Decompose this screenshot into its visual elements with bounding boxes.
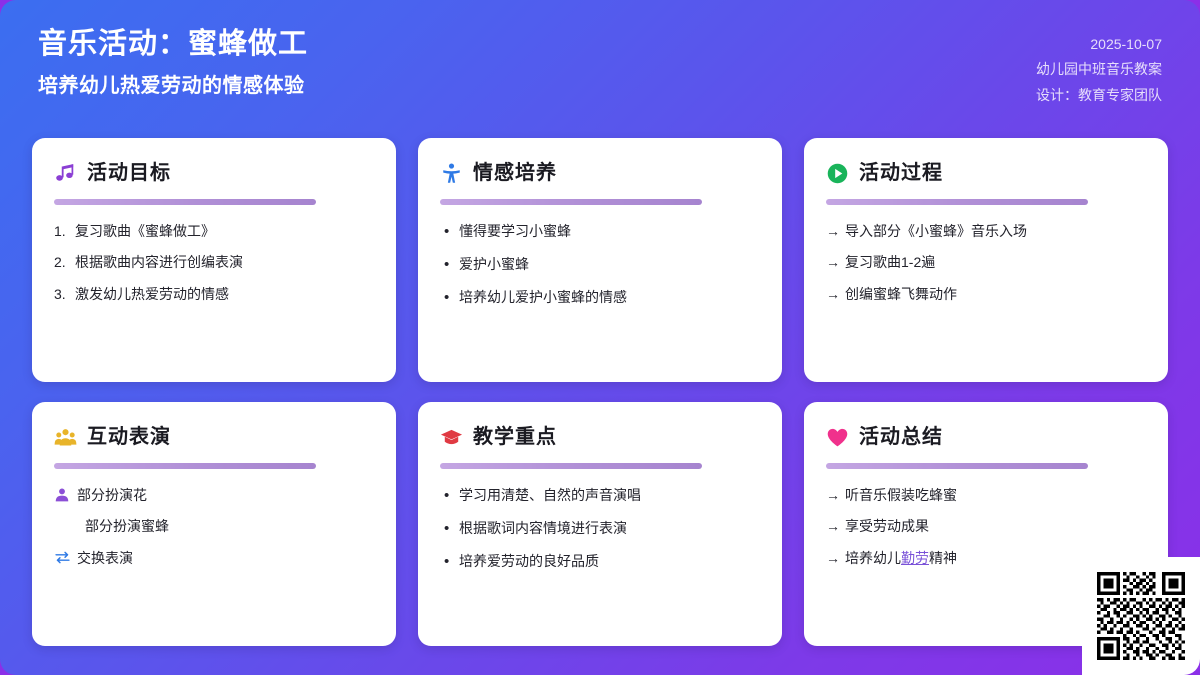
list-item-text: 根据歌曲内容进行创编表演 — [75, 252, 374, 272]
list-marker: 3. — [54, 284, 75, 304]
list-item: 部分扮演花 — [54, 485, 374, 505]
graduation-cap-icon — [440, 426, 463, 449]
list-marker: • — [440, 287, 459, 309]
list-marker: • — [440, 485, 459, 507]
card-item-list: → 听音乐假装吃蜂蜜 → 享受劳动成果 → 培养幼儿勤劳精神 — [826, 485, 1146, 568]
heart-icon — [826, 426, 849, 449]
list-item-text: 交换表演 — [77, 548, 374, 568]
list-marker: → — [826, 548, 845, 568]
list-marker: → — [826, 252, 845, 272]
list-item-text: 导入部分《小蜜蜂》音乐入场 — [845, 221, 1146, 241]
card-title: 教学重点 — [473, 427, 557, 447]
list-item: → 导入部分《小蜜蜂》音乐入场 — [826, 221, 1146, 241]
card-header: 活动目标 — [54, 158, 374, 188]
card-activity-goals: 活动目标 1. 复习歌曲《蜜蜂做工》 2. 根据歌曲内容进行创编表演 3. 激发… — [32, 138, 396, 382]
card-header: 活动过程 — [826, 158, 1146, 188]
no-icon-spacer — [54, 516, 77, 536]
card-divider — [440, 199, 702, 205]
card-title: 情感培养 — [473, 163, 557, 183]
list-item-text: 爱护小蜜蜂 — [459, 254, 760, 274]
card-divider — [826, 199, 1088, 205]
list-item: • 培养幼儿爱护小蜜蜂的情感 — [440, 287, 760, 309]
list-item-text: 培养幼儿爱护小蜜蜂的情感 — [459, 287, 760, 307]
list-marker: • — [440, 221, 459, 243]
qr-code[interactable] — [1082, 557, 1200, 675]
list-item-text: 部分扮演蜜蜂 — [77, 516, 374, 536]
card-header: 互动表演 — [54, 422, 374, 452]
list-item: • 培养爱劳动的良好品质 — [440, 551, 760, 573]
list-marker: • — [440, 551, 459, 573]
swap-arrows-icon — [54, 548, 77, 568]
card-title: 活动过程 — [859, 163, 943, 183]
list-item-text: 听音乐假装吃蜂蜜 — [845, 485, 1146, 505]
list-marker: 2. — [54, 252, 75, 272]
list-marker: 1. — [54, 221, 75, 241]
list-item: 交换表演 — [54, 548, 374, 568]
card-divider — [826, 463, 1088, 469]
list-item-text: 复习歌曲《蜜蜂做工》 — [75, 221, 374, 241]
header-date: 2025-10-07 — [1090, 34, 1162, 54]
qr-code-image — [1094, 569, 1188, 663]
card-grid: 活动目标 1. 复习歌曲《蜜蜂做工》 2. 根据歌曲内容进行创编表演 3. 激发… — [32, 138, 1168, 646]
list-item: • 学习用清楚、自然的声音演唱 — [440, 485, 760, 507]
card-item-list: → 导入部分《小蜜蜂》音乐入场 → 复习歌曲1-2遍 → 创编蜜蜂飞舞动作 — [826, 221, 1146, 304]
list-marker: • — [440, 254, 459, 276]
list-marker: → — [826, 516, 845, 536]
card-item-list: 1. 复习歌曲《蜜蜂做工》 2. 根据歌曲内容进行创编表演 3. 激发幼儿热爱劳… — [54, 221, 374, 304]
page-subtitle: 培养幼儿热爱劳动的情感体验 — [38, 72, 308, 100]
card-header: 情感培养 — [440, 158, 760, 188]
standing-person-icon — [440, 162, 463, 185]
list-item: • 根据歌词内容情境进行表演 — [440, 518, 760, 540]
header-title-block: 音乐活动：蜜蜂做工 培养幼儿热爱劳动的情感体验 — [38, 26, 308, 100]
list-item: → 听音乐假装吃蜂蜜 — [826, 485, 1146, 505]
list-item: 3. 激发幼儿热爱劳动的情感 — [54, 284, 374, 304]
list-item-text: 懂得要学习小蜜蜂 — [459, 221, 760, 241]
list-item: • 懂得要学习小蜜蜂 — [440, 221, 760, 243]
header-author: 设计：教育专家团队 — [1036, 85, 1162, 105]
people-group-icon — [54, 426, 77, 449]
play-circle-icon — [826, 162, 849, 185]
card-header: 教学重点 — [440, 422, 760, 452]
card-header: 活动总结 — [826, 422, 1146, 452]
list-item-text: 部分扮演花 — [77, 485, 374, 505]
card-title: 活动目标 — [87, 163, 171, 183]
list-marker: → — [826, 221, 845, 241]
header-category: 幼儿园中班音乐教案 — [1036, 59, 1162, 79]
list-item: 部分扮演蜜蜂 — [54, 516, 374, 536]
list-item-text: 根据歌词内容情境进行表演 — [459, 518, 760, 538]
card-divider — [440, 463, 702, 469]
card-title: 活动总结 — [859, 427, 943, 447]
card-divider — [54, 199, 316, 205]
header-meta-block: 2025-10-07 幼儿园中班音乐教案 设计：教育专家团队 — [1036, 26, 1162, 105]
slide-header: 音乐活动：蜜蜂做工 培养幼儿热爱劳动的情感体验 2025-10-07 幼儿园中班… — [0, 0, 1200, 128]
page-title: 音乐活动：蜜蜂做工 — [38, 26, 308, 64]
card-interactive-performance: 互动表演 部分扮演花 部分扮演蜜蜂 — [32, 402, 396, 646]
card-divider — [54, 463, 316, 469]
list-item: → 创编蜜蜂飞舞动作 — [826, 284, 1146, 304]
slide-root: 音乐活动：蜜蜂做工 培养幼儿热爱劳动的情感体验 2025-10-07 幼儿园中班… — [0, 0, 1200, 675]
inline-link-diligence[interactable]: 勤劳 — [901, 550, 929, 566]
list-item-text: 复习歌曲1-2遍 — [845, 252, 1146, 272]
list-item: 2. 根据歌曲内容进行创编表演 — [54, 252, 374, 272]
person-bust-icon — [54, 485, 77, 505]
card-emotional-development: 情感培养 • 懂得要学习小蜜蜂 • 爱护小蜜蜂 • 培养幼儿爱护小蜜蜂的情感 — [418, 138, 782, 382]
list-marker: → — [826, 485, 845, 505]
music-note-icon — [54, 162, 77, 185]
list-item-text: 学习用清楚、自然的声音演唱 — [459, 485, 760, 505]
list-item-text: 激发幼儿热爱劳动的情感 — [75, 284, 374, 304]
card-item-list: • 学习用清楚、自然的声音演唱 • 根据歌词内容情境进行表演 • 培养爱劳动的良… — [440, 485, 760, 572]
list-marker: → — [826, 284, 845, 304]
card-activity-process: 活动过程 → 导入部分《小蜜蜂》音乐入场 → 复习歌曲1-2遍 → 创编蜜蜂飞舞… — [804, 138, 1168, 382]
list-item-text: 创编蜜蜂飞舞动作 — [845, 284, 1146, 304]
list-item: → 享受劳动成果 — [826, 516, 1146, 536]
list-item-text: 培养爱劳动的良好品质 — [459, 551, 760, 571]
card-title: 互动表演 — [87, 427, 171, 447]
card-item-list: 部分扮演花 部分扮演蜜蜂 交换表演 — [54, 485, 374, 568]
card-teaching-focus: 教学重点 • 学习用清楚、自然的声音演唱 • 根据歌词内容情境进行表演 • 培养… — [418, 402, 782, 646]
list-item: → 复习歌曲1-2遍 — [826, 252, 1146, 272]
list-item-text: 享受劳动成果 — [845, 516, 1146, 536]
list-item: • 爱护小蜜蜂 — [440, 254, 760, 276]
list-item: 1. 复习歌曲《蜜蜂做工》 — [54, 221, 374, 241]
list-marker: • — [440, 518, 459, 540]
card-item-list: • 懂得要学习小蜜蜂 • 爱护小蜜蜂 • 培养幼儿爱护小蜜蜂的情感 — [440, 221, 760, 308]
